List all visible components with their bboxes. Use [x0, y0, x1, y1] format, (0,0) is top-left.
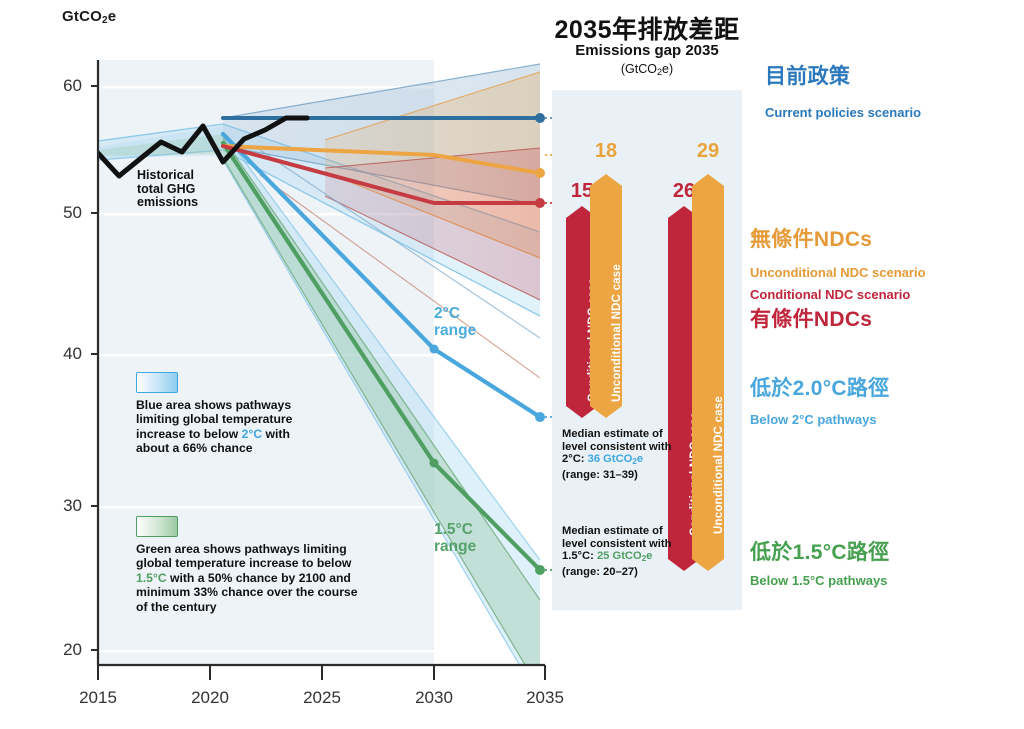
median-note-2c-val-tail: e [637, 453, 643, 465]
median-note-15c-line1: Median estimate of [562, 525, 684, 538]
green-gradient-swatch-icon [136, 516, 178, 537]
gap-title-en: Emissions gap 2035 [497, 42, 797, 59]
median-note-2c-line3: 2°C: 36 GtCO2e [562, 453, 684, 469]
range-label-2c-line2: range [434, 322, 476, 339]
gap-arrow-2c-unconditional-label-wrap: Unconditional NDC case [590, 174, 622, 418]
legend-unconditional-en: Unconditional NDC scenario [750, 265, 926, 281]
legend-below15-zh: 低於1.5°C路徑 [750, 541, 889, 565]
legend-green-line3: 1.5°C with a 50% chance by 2100 and [136, 571, 384, 585]
median-note-15c-val-tail: e [646, 550, 652, 562]
median-note-15c-line2: level consistent with [562, 538, 684, 551]
historical-annotation: Historical total GHG emissions [137, 169, 198, 210]
gap-title-zh: 2035年排放差距 [497, 10, 797, 46]
range-label-15c: 1.5°C range [434, 521, 476, 555]
legend-current-policies-en: Current policies scenario [765, 105, 921, 121]
legend-current-policies-zh: 目前政策 [765, 65, 850, 89]
gap-arrow-15c-unconditional-label-wrap: Unconditional NDC case [692, 174, 724, 571]
median-note-15c-pre: 1.5°C: [562, 550, 597, 562]
gap-title-unit: (GtCO2e) [497, 62, 797, 77]
legend-blue-note: Blue area shows pathways limiting global… [136, 398, 366, 456]
historical-annotation-line1: Historical [137, 169, 198, 183]
range-label-2c-line1: 2°C [434, 305, 476, 322]
x-tick-2030: 2030 [399, 688, 469, 708]
x-tick-2025: 2025 [287, 688, 357, 708]
legend-green-line3-post: with a 50% chance by 2100 and [167, 571, 351, 585]
median-note-2c: Median estimate of level consistent with… [562, 428, 684, 481]
legend-green-line3-hi: 1.5°C [136, 571, 167, 585]
legend-green-line1: Green area shows pathways limiting [136, 542, 384, 556]
gap-arrow-15c-unconditional-label: Unconditional NDC case [713, 396, 724, 534]
legend-below2-zh: 低於2.0°C路徑 [750, 377, 889, 401]
x-tick-2015: 2015 [63, 688, 133, 708]
median-note-2c-val: 36 GtCO2e [588, 453, 643, 465]
gap-value-2c-unconditional: 18 [576, 140, 636, 163]
blue-gradient-swatch-icon [136, 372, 178, 393]
legend-conditional-en: Conditional NDC scenario [750, 287, 910, 303]
historical-annotation-line2: total GHG [137, 183, 198, 197]
legend-conditional-zh: 有條件NDCs [750, 308, 872, 332]
range-label-2c: 2°C range [434, 305, 476, 339]
legend-blue-swatch-wrap [136, 372, 178, 393]
y-tick-40: 40 [36, 344, 82, 364]
range-label-15c-line1: 1.5°C [434, 521, 476, 538]
legend-blue-line2: limiting global temperature [136, 412, 366, 426]
median-note-15c-val-text: 25 GtCO [597, 550, 642, 562]
median-note-15c: Median estimate of level consistent with… [562, 525, 684, 578]
median-note-2c-line1: Median estimate of [562, 428, 684, 441]
legend-below2-en: Below 2°C pathways [750, 412, 877, 428]
median-note-15c-line3: 1.5°C: 25 GtCO2e [562, 550, 684, 566]
y-tick-50: 50 [36, 203, 82, 223]
y-axis-title-tail: e [108, 8, 117, 25]
gap-arrow-2c-unconditional-label: Unconditional NDC case [611, 264, 622, 402]
median-note-2c-line4: (range: 31–39) [562, 469, 684, 482]
median-note-2c-line2: level consistent with [562, 441, 684, 454]
gap-value-15c-unconditional: 29 [678, 140, 738, 163]
legend-blue-line1: Blue area shows pathways [136, 398, 366, 412]
y-axis-title-text: GtCO [62, 8, 102, 25]
median-note-2c-pre: 2°C: [562, 453, 588, 465]
legend-blue-line3-hi: 2°C [242, 427, 262, 441]
x-tick-2035: 2035 [510, 688, 580, 708]
y-axis-title: GtCO2e [62, 8, 116, 26]
legend-blue-line3-pre: increase to below [136, 427, 242, 441]
historical-annotation-line3: emissions [137, 196, 198, 210]
legend-unconditional-zh: 無條件NDCs [750, 228, 872, 252]
median-note-15c-line4: (range: 20–27) [562, 566, 684, 579]
x-tick-2020: 2020 [175, 688, 245, 708]
y-tick-20: 20 [36, 640, 82, 660]
y-tick-60: 60 [36, 76, 82, 96]
gap-unit-post: e) [662, 62, 673, 76]
legend-blue-line3-post: with [262, 427, 290, 441]
legend-green-line5: of the century [136, 600, 384, 614]
y-tick-30: 30 [36, 496, 82, 516]
legend-below15-en: Below 1.5°C pathways [750, 573, 887, 589]
gap-unit-pre: (GtCO [621, 62, 657, 76]
legend-blue-line4: about a 66% chance [136, 441, 366, 455]
legend-blue-line3: increase to below 2°C with [136, 427, 366, 441]
legend-green-swatch-wrap [136, 516, 178, 537]
legend-green-note: Green area shows pathways limiting globa… [136, 542, 384, 614]
legend-green-line2: global temperature increase to below [136, 556, 384, 570]
legend-green-line4: minimum 33% chance over the course [136, 585, 384, 599]
median-note-2c-val-text: 36 GtCO [588, 453, 633, 465]
median-note-15c-val: 25 GtCO2e [597, 550, 652, 562]
range-label-15c-line2: range [434, 538, 476, 555]
